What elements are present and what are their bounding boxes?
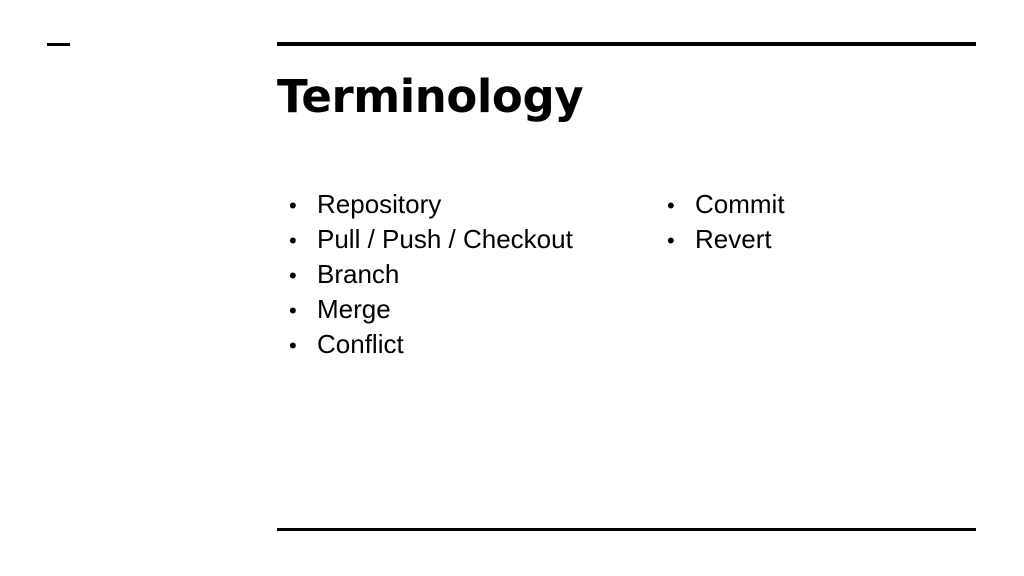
bottom-divider <box>277 528 976 531</box>
presentation-slide: Terminology • Repository • Pull / Push /… <box>0 0 1024 576</box>
bullet-column-left: • Repository • Pull / Push / Checkout • … <box>277 187 655 362</box>
list-item: • Repository <box>277 187 655 222</box>
list-item-label: Repository <box>317 187 655 222</box>
list-item: • Commit <box>655 187 976 222</box>
list-item-label: Commit <box>695 187 976 222</box>
bullet-dot-icon: • <box>277 293 317 328</box>
bullet-column-right: • Commit • Revert <box>655 187 976 257</box>
dash-mark-icon <box>47 43 70 46</box>
bullet-dot-icon: • <box>277 188 317 223</box>
top-divider <box>277 42 976 46</box>
bullet-dot-icon: • <box>655 223 695 258</box>
list-item: • Branch <box>277 257 655 292</box>
bullet-columns: • Repository • Pull / Push / Checkout • … <box>277 187 976 362</box>
list-item: • Merge <box>277 292 655 327</box>
list-item-label: Revert <box>695 222 976 257</box>
bullet-dot-icon: • <box>277 328 317 363</box>
page-title: Terminology <box>277 73 583 120</box>
list-item: • Conflict <box>277 327 655 362</box>
list-item: • Pull / Push / Checkout <box>277 222 655 257</box>
list-item-label: Merge <box>317 292 655 327</box>
bullet-dot-icon: • <box>655 188 695 223</box>
list-item-label: Conflict <box>317 327 655 362</box>
list-item: • Revert <box>655 222 976 257</box>
list-item-label: Branch <box>317 257 655 292</box>
list-item-label: Pull / Push / Checkout <box>317 222 655 257</box>
bullet-dot-icon: • <box>277 223 317 258</box>
bullet-dot-icon: • <box>277 258 317 293</box>
